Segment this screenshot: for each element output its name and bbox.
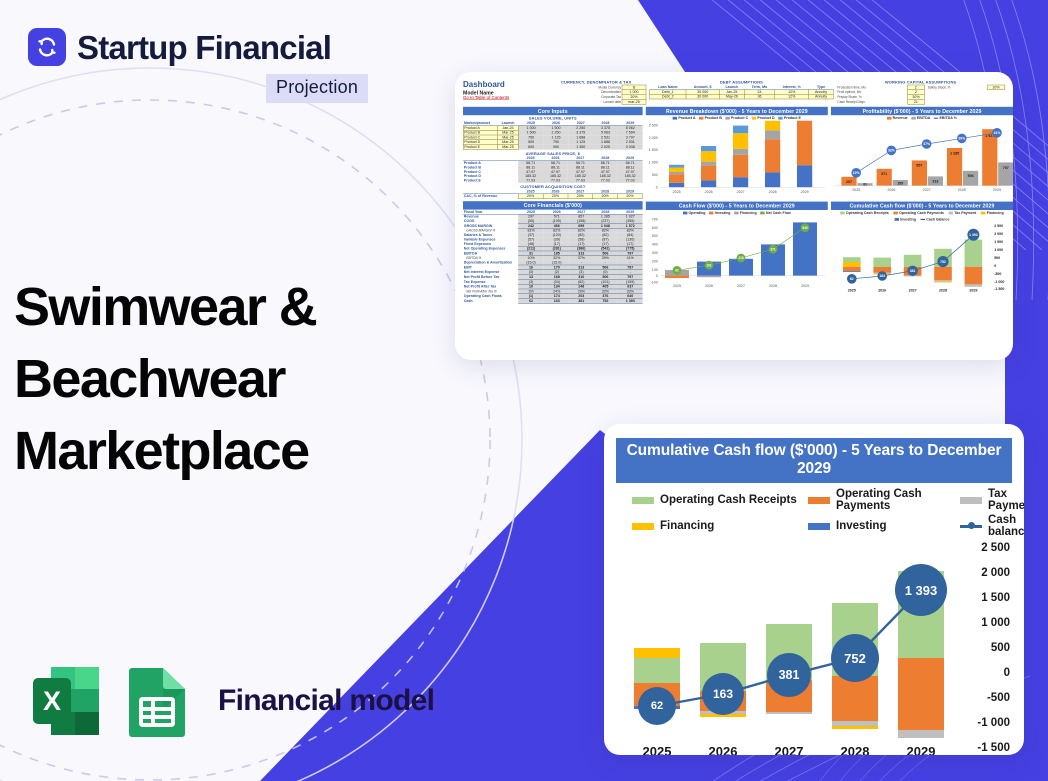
data-label: 752 — [844, 651, 866, 666]
x-tick: 2029 — [888, 744, 954, 755]
y-tick: 2 500 — [981, 542, 1010, 554]
currency-caption: CURRENCY, DENOMINATOR & TAX — [546, 80, 646, 84]
brand-subtitle: Projection — [266, 74, 368, 103]
svg-text:400: 400 — [652, 243, 658, 247]
svg-text:41%: 41% — [994, 131, 1001, 135]
legend-swatch — [808, 497, 830, 504]
svg-text:2 500: 2 500 — [649, 123, 658, 127]
legend-swatch — [960, 497, 982, 504]
data-marker-2029: 1 393 — [895, 564, 947, 616]
svg-text:2029: 2029 — [801, 190, 809, 194]
legend-item-cash-balance: Cash balance — [960, 514, 1024, 538]
cash-flow-chart-title: Cumulative Cash flow ($'000) - 5 Years t… — [616, 438, 1012, 483]
legend-item-operating-cash-payments: Operating Cash Payments — [808, 488, 960, 512]
table-cell: 752 — [593, 299, 618, 304]
working-capital-table: Production time, Mo2 Safety Stock, %10% … — [837, 85, 1005, 105]
x-tick: 2025 — [624, 744, 690, 755]
y-tick: 500 — [991, 642, 1010, 654]
svg-text:1 500: 1 500 — [994, 240, 1003, 244]
table-of-contents-link[interactable]: Go to Table of Contents — [463, 96, 543, 101]
dashboard-title: Dashboard — [463, 80, 543, 89]
svg-text:10%: 10% — [853, 171, 860, 175]
svg-text:101: 101 — [706, 263, 712, 267]
svg-text:-500: -500 — [994, 272, 1001, 276]
svg-text:752: 752 — [940, 260, 946, 264]
google-sheets-icon — [121, 661, 193, 741]
cumulative-chart-title: Cumulative Cash flow ($'000) - 5 Years t… — [831, 202, 1013, 210]
svg-text:2 000: 2 000 — [649, 136, 658, 140]
table-cell: 163 — [544, 299, 570, 304]
svg-text:2025: 2025 — [673, 190, 681, 194]
table-row: Cash621633817521 393 — [463, 299, 643, 304]
svg-text:2027: 2027 — [737, 284, 745, 288]
legend-swatch — [808, 523, 830, 530]
legend-item-investing: Investing — [808, 514, 960, 538]
svg-text:-100: -100 — [651, 281, 658, 285]
svg-text:X: X — [43, 686, 61, 716]
legend-item-tax-payment: Tax Payment — [960, 488, 1024, 512]
data-label: 381 — [779, 668, 800, 682]
table-cell: 1 393 — [618, 299, 643, 304]
table-row: Cash Receipt Days21 — [837, 99, 1005, 104]
y-tick: -500 — [987, 692, 1010, 704]
financial-model-label: Financial model — [218, 684, 434, 718]
legend-line-marker — [960, 525, 982, 528]
svg-text:0: 0 — [656, 185, 658, 189]
table-row: Debt_2 30 000 May-26 36 12% Annuity — [650, 94, 834, 99]
svg-text:506: 506 — [968, 174, 974, 178]
svg-text:0: 0 — [656, 274, 658, 278]
svg-text:1 285: 1 285 — [950, 151, 959, 155]
svg-text:2025: 2025 — [848, 289, 856, 293]
svg-text:185: 185 — [897, 181, 903, 185]
legend-label: Cash balance — [988, 514, 1024, 538]
x-tick: 2028 — [822, 744, 888, 755]
svg-text:2 000: 2 000 — [994, 232, 1003, 236]
sales-volume-table: Market/product Launch 2025 2026 2027 202… — [463, 121, 643, 150]
data-marker-2027: 381 — [767, 653, 811, 697]
svg-text:31: 31 — [863, 183, 867, 187]
svg-text:2026: 2026 — [887, 188, 895, 192]
data-label: 163 — [713, 687, 733, 701]
svg-text:297: 297 — [846, 180, 852, 184]
svg-text:2027: 2027 — [737, 190, 745, 194]
microsoft-excel-icon: X — [30, 661, 102, 741]
table-row: CAC, % of Revenue 20% 20% 20% 20% 20% — [463, 194, 642, 199]
svg-text:-1 000: -1 000 — [994, 280, 1004, 284]
core-inputs-band: Core Inputs — [463, 107, 643, 115]
cumulative-cash-flow-card[interactable]: Cumulative Cash flow ($'000) - 5 Years t… — [604, 424, 1024, 755]
svg-text:2028: 2028 — [939, 289, 947, 293]
profitability-chart: 29731 571185 857313 1 285506 1 927797 — [831, 121, 1013, 198]
row-label: Cash — [463, 299, 518, 304]
svg-text:163: 163 — [879, 274, 885, 278]
data-label: 1 393 — [905, 583, 938, 598]
svg-text:2027: 2027 — [909, 289, 917, 293]
table-cell: 62 — [518, 299, 544, 304]
debt-table: Loan Name Amount, $ Launch Term, Mo Inte… — [649, 85, 833, 99]
circular-arrow-logo-icon — [28, 28, 66, 66]
y-tick: 2 000 — [981, 567, 1010, 579]
svg-text:2029: 2029 — [801, 284, 809, 288]
svg-text:700: 700 — [652, 217, 658, 221]
legend-swatch — [632, 497, 654, 504]
revenue-chart-title: Revenue Breakdown ($'000) - 5 Years to D… — [646, 107, 828, 115]
svg-text:600: 600 — [652, 226, 658, 230]
svg-text:313: 313 — [932, 179, 938, 183]
cashflow-chart-title: Cash Flow ($'000) - 5 Years to December … — [646, 202, 828, 210]
data-marker-2028: 752 — [831, 634, 879, 682]
chart-plot-area: 62 163 381 752 1 393 2 500 2 000 1 500 1… — [616, 544, 1012, 755]
svg-text:0: 0 — [994, 264, 996, 268]
table-row: Product EMar-256009001 3502 0253 038 — [463, 145, 642, 150]
cac-table: 2025 2026 2027 2028 2029 CAC, % of Reven… — [463, 189, 643, 199]
svg-text:62: 62 — [850, 277, 854, 281]
svg-text:218: 218 — [738, 256, 744, 260]
y-tick: 0 — [1004, 667, 1010, 679]
legend-label: Financing — [660, 520, 714, 532]
svg-text:797: 797 — [1003, 166, 1009, 170]
profitability-chart-title: Profitability ($'000) - 5 Years to Decem… — [831, 107, 1013, 115]
data-marker-2025: 62 — [638, 687, 676, 725]
brand-name: Startup Financial — [77, 31, 331, 64]
svg-text:200: 200 — [652, 259, 658, 263]
svg-text:300: 300 — [652, 251, 658, 255]
svg-text:2026: 2026 — [705, 284, 713, 288]
svg-text:640: 640 — [802, 226, 808, 230]
svg-text:1 000: 1 000 — [649, 161, 658, 165]
x-tick: 2027 — [756, 744, 822, 755]
svg-text:371: 371 — [770, 247, 776, 251]
revenue-breakdown-chart: 2 5002 000 1 5001 000 5000 — [646, 121, 828, 198]
cumulative-chart-legend: Operating Cash Receipts Operating Cash P… — [831, 210, 1013, 222]
page-title: Swimwear & Beachwear Marketplace — [14, 272, 414, 487]
svg-text:2027: 2027 — [923, 188, 931, 192]
svg-text:32%: 32% — [888, 149, 895, 153]
avg-price-table: 2025 2026 2027 2028 2029 Product A58.715… — [463, 156, 643, 183]
legend-label: Operating Cash Receipts — [660, 494, 797, 506]
svg-text:62: 62 — [675, 269, 679, 273]
svg-text:2028: 2028 — [958, 188, 966, 192]
legend-label: Tax Payment — [988, 488, 1024, 512]
svg-text:1 393: 1 393 — [969, 233, 978, 237]
brand-logo: Startup Financial — [28, 28, 331, 66]
data-marker-2026: 163 — [702, 673, 744, 715]
svg-text:2028: 2028 — [769, 284, 777, 288]
svg-text:37%: 37% — [923, 142, 930, 146]
svg-text:381: 381 — [910, 269, 916, 273]
core-financials-band: Core Financials ($'000) — [463, 201, 643, 209]
y-tick: -1 500 — [977, 742, 1010, 754]
svg-text:39%: 39% — [958, 137, 965, 141]
svg-text:-1 500: -1 500 — [994, 287, 1004, 291]
svg-text:500: 500 — [994, 256, 1000, 260]
cumulative-cash-flow-mini-chart: 2 5002 000 1 5001 000 5000 -500-1 000 -1… — [831, 222, 1013, 294]
svg-text:1 000: 1 000 — [994, 248, 1003, 252]
svg-text:857: 857 — [916, 163, 922, 167]
currency-table: Model Currency$ Denomination1 000 Corpor… — [546, 85, 646, 105]
svg-text:2 500: 2 500 — [994, 224, 1003, 228]
svg-text:500: 500 — [652, 173, 658, 177]
y-tick: 1 500 — [981, 592, 1010, 604]
svg-text:2029: 2029 — [969, 289, 977, 293]
cash-flow-chart: 700600 500400 300200 1000 -100 — [646, 216, 828, 292]
svg-text:2029: 2029 — [993, 188, 1001, 192]
chart-legend: Operating Cash Receipts Operating Cash P… — [616, 483, 1012, 538]
svg-text:2025: 2025 — [852, 188, 860, 192]
svg-text:1 500: 1 500 — [649, 148, 658, 152]
dashboard-preview-card[interactable]: Dashboard Model Name Go to Table of Cont… — [455, 72, 1013, 360]
legend-item-financing: Financing — [632, 514, 808, 538]
x-tick: 2026 — [690, 744, 756, 755]
y-tick: -1 000 — [977, 717, 1010, 729]
legend-label: Investing — [836, 520, 886, 532]
legend-item-operating-cash-receipts: Operating Cash Receipts — [632, 488, 808, 512]
svg-text:2026: 2026 — [878, 289, 886, 293]
y-axis-labels: 2 500 2 000 1 500 1 000 500 0 -500 -1 00… — [956, 544, 1012, 744]
svg-text:2028: 2028 — [769, 190, 777, 194]
excel-dashboard-sheet: Dashboard Model Name Go to Table of Cont… — [459, 78, 1013, 360]
svg-text:500: 500 — [652, 234, 658, 238]
x-axis-labels: 2025 2026 2027 2028 2029 — [624, 744, 954, 755]
svg-text:571: 571 — [881, 172, 887, 176]
y-tick: 1 000 — [981, 617, 1010, 629]
core-financials-table: Fiscal Year20252026202720282029Revenue29… — [463, 210, 643, 304]
format-badges: X Financial model — [30, 661, 434, 741]
data-label: 62 — [651, 700, 663, 712]
svg-text:100: 100 — [652, 268, 658, 272]
legend-label: Operating Cash Payments — [836, 488, 960, 512]
svg-text:2026: 2026 — [705, 190, 713, 194]
svg-text:2025: 2025 — [673, 284, 681, 288]
table-cell: 381 — [570, 299, 593, 304]
legend-swatch — [632, 523, 654, 530]
table-row: Product E77.0377.0377.0377.0377.03 — [463, 178, 643, 182]
